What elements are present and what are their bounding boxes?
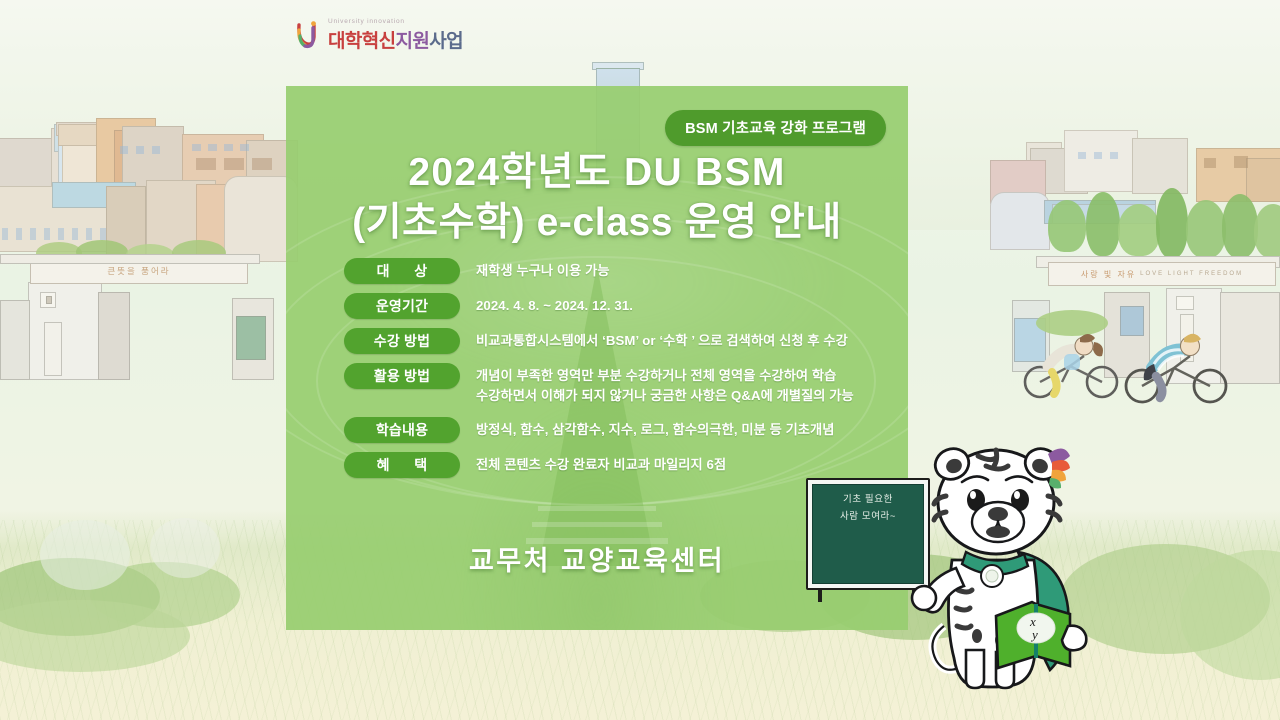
right-gate-banner-en: LOVE LIGHT FREEDOM (1140, 271, 1243, 277)
info-row-value: 방정식, 함수, 삼각함수, 지수, 로그, 함수의극한, 미분 등 기초개념 (476, 417, 884, 440)
uj-monogram-icon (296, 21, 322, 51)
info-row-value: 2024. 4. 8. ~ 2024. 12. 31. (476, 293, 884, 316)
info-rows-list: 대 상 재학생 누구나 이용 가능 운영기간 2024. 4. 8. ~ 202… (344, 258, 884, 487)
info-row: 혜 택 전체 콘텐츠 수강 완료자 비교과 마일리지 6점 (344, 452, 884, 478)
info-row: 학습내용 방정식, 함수, 삼각함수, 지수, 로그, 함수의극한, 미분 등 … (344, 417, 884, 443)
info-row-label: 활용 방법 (344, 363, 460, 389)
info-row-value: 전체 콘텐츠 수강 완료자 비교과 마일리지 6점 (476, 452, 884, 475)
white-tiger-mascot: x y (900, 440, 1115, 690)
info-row-value: 개념이 부족한 영역만 부분 수강하거나 전체 영역을 수강하여 학습 수강하면… (476, 363, 884, 406)
logo-english-tagline: University innovation (328, 18, 463, 25)
university-innovation-logo: University innovation 대학혁신지원사업 (296, 18, 463, 53)
info-row-label: 혜 택 (344, 452, 460, 478)
logo-kr-part2: 지원 (396, 31, 430, 52)
poster-canvas: 큰뜻을 품어라 (0, 0, 1280, 720)
info-row-label: 수강 방법 (344, 328, 460, 354)
info-row-value: 비교과통합시스템에서 ‘BSM’ or ‘수학 ’ 으로 검색하여 신청 후 수… (476, 328, 884, 351)
info-row: 수강 방법 비교과통합시스템에서 ‘BSM’ or ‘수학 ’ 으로 검색하여 … (344, 328, 884, 354)
info-row-label: 학습내용 (344, 417, 460, 443)
info-row: 활용 방법 개념이 부족한 영역만 부분 수강하거나 전체 영역을 수강하여 학… (344, 363, 884, 406)
program-badge: BSM 기초교육 강화 프로그램 (665, 110, 886, 146)
logo-korean-name: 대학혁신지원사업 (328, 26, 463, 53)
info-row: 운영기간 2024. 4. 8. ~ 2024. 12. 31. (344, 293, 884, 319)
title-line-2: (기초수학) e-class 운영 안내 (286, 198, 908, 248)
info-row: 대 상 재학생 누구나 이용 가능 (344, 258, 884, 284)
logo-kr-part3: 사업 (429, 31, 463, 52)
info-row-label: 대 상 (344, 258, 460, 284)
svg-text:y: y (1030, 627, 1038, 642)
page-title: 2024학년도 DU BSM (기초수학) e-class 운영 안내 (286, 148, 908, 248)
cyclist-right (1118, 324, 1236, 411)
info-row-label: 운영기간 (344, 293, 460, 319)
blackboard-leg-left (818, 590, 822, 602)
title-line-1: 2024학년도 DU BSM (286, 148, 908, 198)
cyclist-left (1018, 322, 1128, 407)
right-gate-banner-kr: 사랑 빛 자유 (1081, 269, 1136, 280)
logo-wordmark: University innovation 대학혁신지원사업 (328, 18, 463, 53)
info-row-value: 재학생 누구나 이용 가능 (476, 258, 884, 281)
logo-kr-part1: 대학혁신 (328, 31, 396, 52)
